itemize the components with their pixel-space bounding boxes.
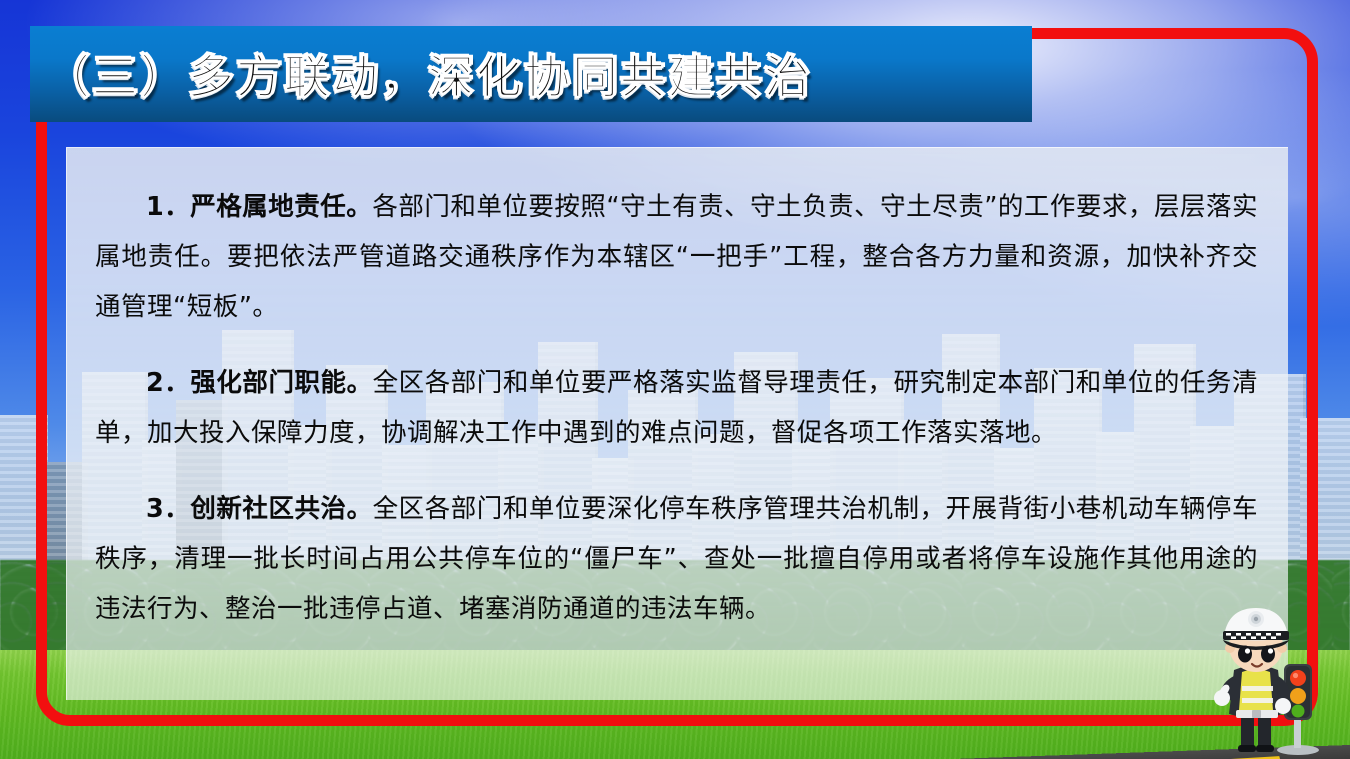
officer-body bbox=[1214, 666, 1291, 753]
officer-head bbox=[1223, 608, 1289, 672]
title-banner: （三）多方联动，深化协同共建共治 bbox=[30, 26, 1032, 122]
page-title: （三）多方联动，深化协同共建共治 bbox=[30, 41, 812, 107]
paragraph-3-lead: 创新社区共治。 bbox=[190, 494, 372, 524]
slide-canvas: （三）多方联动，深化协同共建共治 1．严格属地责任。各部门和单位要按照“守土有责… bbox=[0, 0, 1350, 759]
paragraph-3: 3．创新社区共治。全区各部门和单位要深化停车秩序管理共治机制，开展背街小巷机动车… bbox=[95, 484, 1258, 634]
paragraph-1-number: 1． bbox=[146, 192, 190, 222]
paragraph-2: 2．强化部门职能。全区各部门和单位要严格落实监督导理责任，研究制定本部门和单位的… bbox=[95, 358, 1258, 458]
paragraph-3-number: 3． bbox=[146, 494, 190, 524]
paragraph-1: 1．严格属地责任。各部门和单位要按照“守土有责、守土负责、守土尽责”的工作要求，… bbox=[95, 182, 1258, 332]
traffic-police-mascot bbox=[1192, 598, 1342, 759]
paragraph-2-lead: 强化部门职能。 bbox=[190, 368, 372, 398]
paragraph-2-number: 2． bbox=[146, 368, 190, 398]
content-panel: 1．严格属地责任。各部门和单位要按照“守土有责、守土负责、守土尽责”的工作要求，… bbox=[66, 147, 1288, 700]
paragraph-1-lead: 严格属地责任。 bbox=[190, 192, 372, 222]
